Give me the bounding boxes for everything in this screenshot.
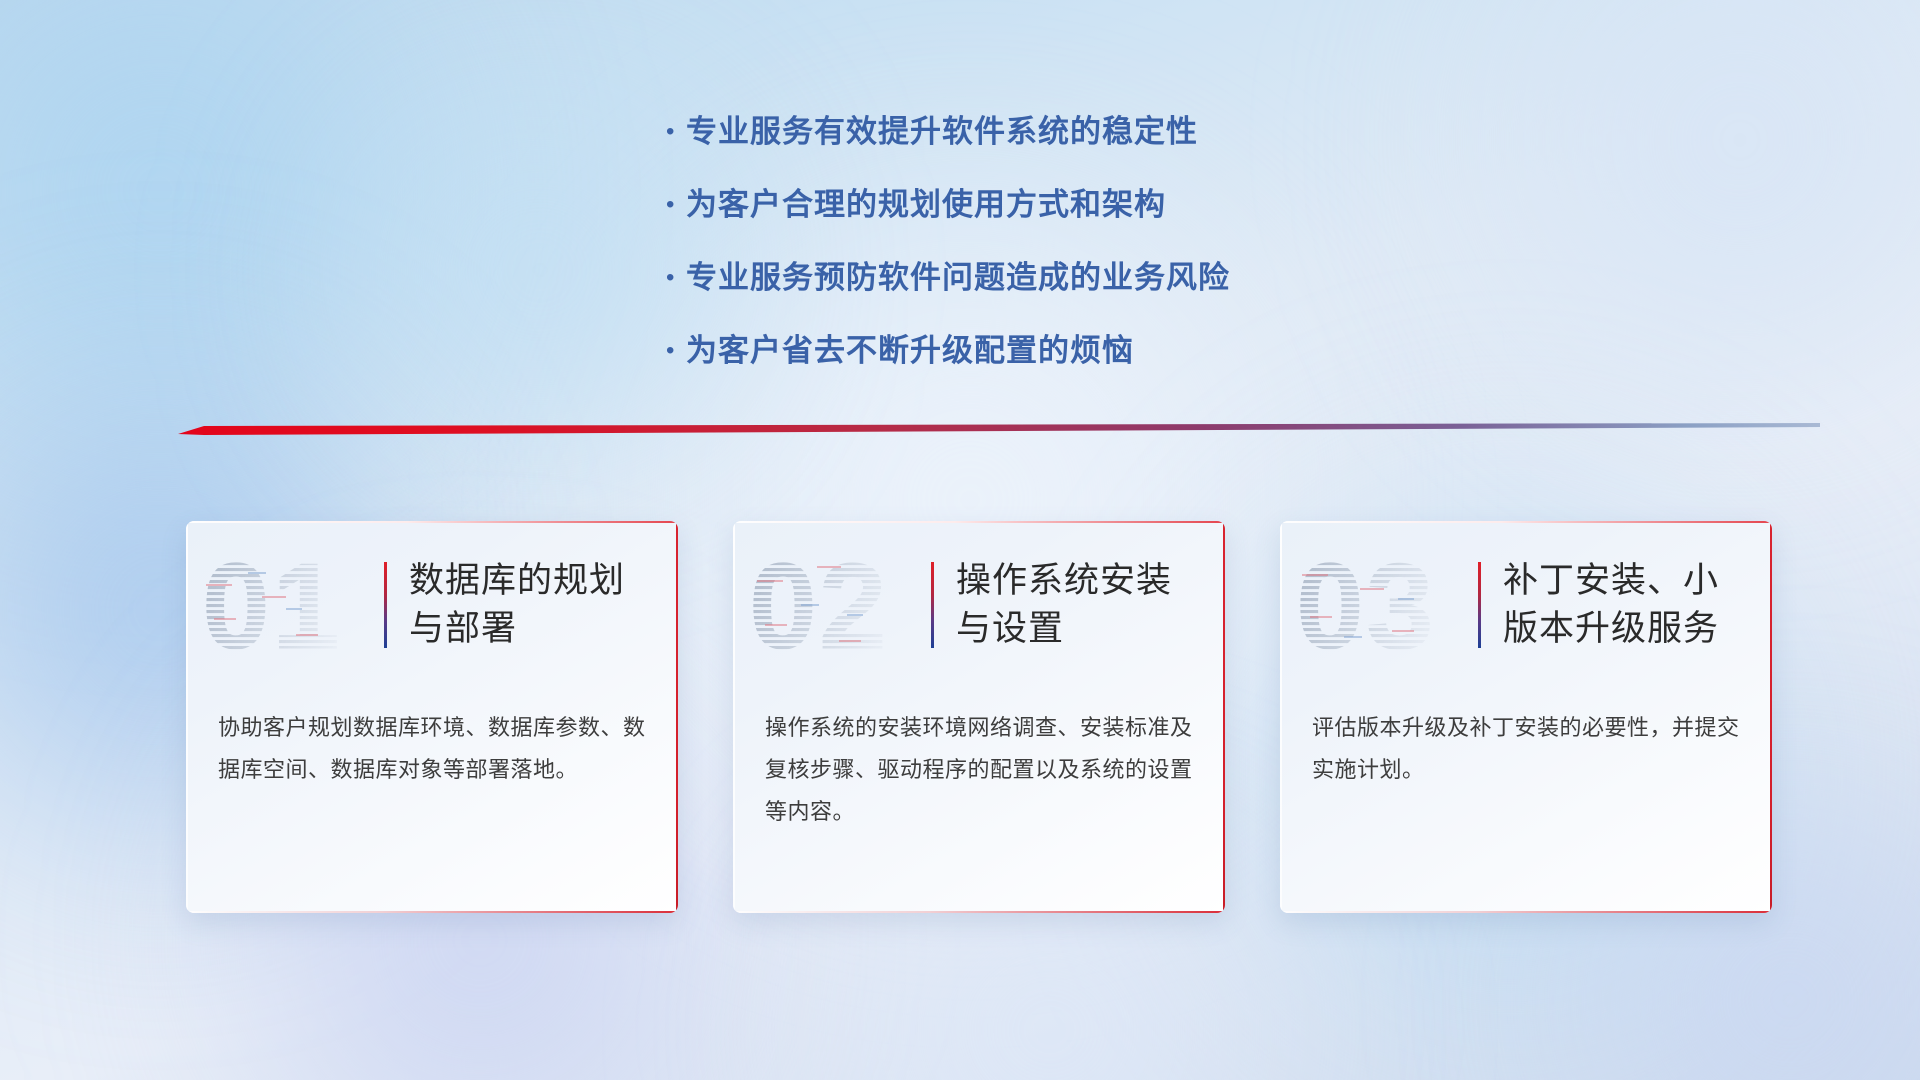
bullet-marker-icon: •	[660, 185, 686, 225]
service-card[interactable]: 03 补丁安装、小 版本升级服务 评估版本	[1280, 521, 1772, 913]
service-card-row: 01 数据库的规划 与部署 协助客户规划数	[186, 521, 1772, 921]
svg-text:01: 01	[202, 544, 342, 666]
list-item-label: 为客户合理的规划使用方式和架构	[686, 185, 1166, 225]
card-description: 评估版本升级及补丁安装的必要性，并提交实施计划。	[1280, 689, 1772, 791]
list-item: • 专业服务预防软件问题造成的业务风险	[660, 258, 1420, 298]
background-blob	[0, 0, 540, 540]
list-item: • 为客户省去不断升级配置的烦恼	[660, 331, 1420, 371]
service-card[interactable]: 01 数据库的规划 与部署 协助客户规划数	[186, 521, 678, 913]
card-header: 02 操作系统安装 与设置	[733, 521, 1225, 689]
card-description: 操作系统的安装环境网络调查、安装标准及复核步骤、驱动程序的配置以及系统的设置等内…	[733, 689, 1225, 833]
list-item: • 专业服务有效提升软件系统的稳定性	[660, 112, 1420, 152]
card-header: 03 补丁安装、小 版本升级服务	[1280, 521, 1772, 689]
list-item-label: 为客户省去不断升级配置的烦恼	[686, 331, 1134, 371]
card-border-bottom	[733, 911, 1225, 913]
list-item-label: 专业服务预防软件问题造成的业务风险	[686, 258, 1230, 298]
service-card[interactable]: 02 操作系统安装 与设置 操作系统的安装	[733, 521, 1225, 913]
card-title-accent-rule	[931, 562, 934, 648]
svg-text:03: 03	[1296, 544, 1436, 666]
list-item-label: 专业服务有效提升软件系统的稳定性	[686, 112, 1198, 152]
card-title: 补丁安装、小 版本升级服务	[1503, 557, 1719, 653]
bullet-marker-icon: •	[660, 331, 686, 371]
background-blob	[1380, 0, 1920, 460]
list-item: • 为客户合理的规划使用方式和架构	[660, 185, 1420, 225]
bullet-marker-icon: •	[660, 258, 686, 298]
card-title: 数据库的规划 与部署	[409, 557, 625, 653]
card-title-accent-rule	[384, 562, 387, 648]
bullet-marker-icon: •	[660, 112, 686, 152]
card-number-watermark: 01	[200, 544, 370, 666]
section-divider	[178, 421, 1820, 441]
card-description: 协助客户规划数据库环境、数据库参数、数据库空间、数据库对象等部署落地。	[186, 689, 678, 791]
card-number-watermark: 02	[747, 544, 917, 666]
slide-canvas: • 专业服务有效提升软件系统的稳定性 • 为客户合理的规划使用方式和架构 • 专…	[0, 0, 1920, 1080]
card-border-bottom	[186, 911, 678, 913]
card-header: 01 数据库的规划 与部署	[186, 521, 678, 689]
card-title: 操作系统安装 与设置	[956, 557, 1172, 653]
card-title-accent-rule	[1478, 562, 1481, 648]
card-border-bottom	[1280, 911, 1772, 913]
card-number-watermark: 03	[1294, 544, 1464, 666]
benefits-bullet-list: • 专业服务有效提升软件系统的稳定性 • 为客户合理的规划使用方式和架构 • 专…	[660, 112, 1420, 404]
